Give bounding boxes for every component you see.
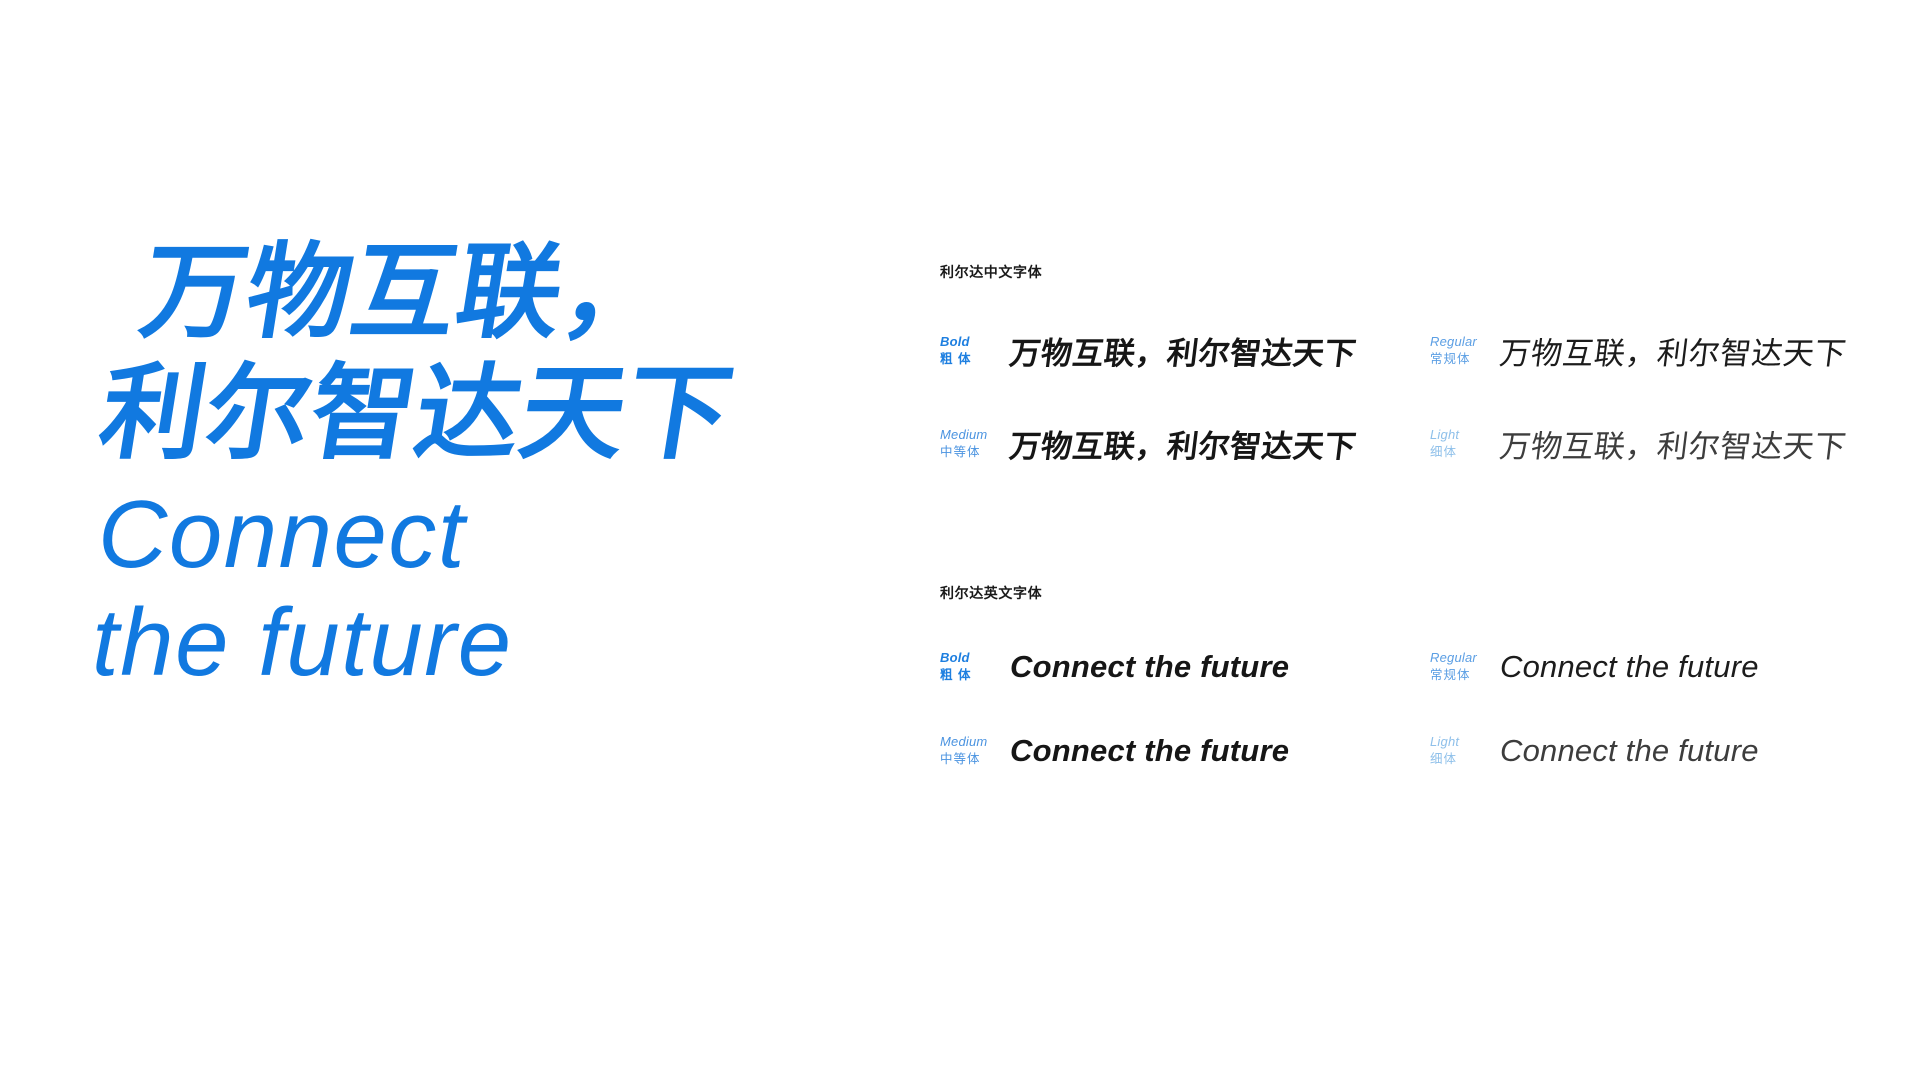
weight-label-regular: Regular 常规体 [1430, 650, 1486, 683]
weight-label-cn: 中等体 [940, 444, 996, 460]
weight-label-en: Bold [940, 650, 996, 667]
specimen-row-english-light: Light 细体 Connect the future [1430, 733, 1880, 769]
weight-label-bold: Bold 粗 体 [940, 334, 996, 367]
weight-label-medium: Medium 中等体 [940, 427, 996, 460]
weight-label-cn: 细体 [1430, 751, 1486, 767]
section-chinese-typeface: 利尔达中文字体 Bold 粗 体 万物互联，利尔智达天下 Regular 常规体… [940, 262, 1880, 466]
specimen-sample-text: 万物互联，利尔智达天下 [1007, 421, 1359, 466]
weight-label-cn: 中等体 [940, 751, 996, 767]
specimen-row-chinese-bold: Bold 粗 体 万物互联，利尔智达天下 [940, 328, 1430, 373]
weight-label-cn: 常规体 [1430, 351, 1486, 367]
specimen-sample-text: 万物互联，利尔智达天下 [1497, 421, 1849, 466]
weight-grid-chinese: Bold 粗 体 万物互联，利尔智达天下 Regular 常规体 万物互联，利尔… [940, 328, 1880, 466]
specimen-sample-text: Connect the future [1010, 733, 1289, 769]
hero-lockup: 万物互联， 利尔智达天下 Connect the future [92, 232, 852, 696]
weight-label-bold: Bold 粗 体 [940, 650, 996, 683]
weight-label-light: Light 细体 [1430, 427, 1486, 460]
weight-label-cn: 常规体 [1430, 667, 1486, 683]
hero-chinese-line-1: 万物互联， [111, 232, 890, 353]
weight-label-en: Regular [1430, 334, 1486, 351]
specimen-row-english-regular: Regular 常规体 Connect the future [1430, 649, 1880, 685]
weight-label-en: Medium [940, 427, 996, 444]
hero-english-line-1: Connect [92, 481, 852, 589]
weight-label-cn: 细体 [1430, 444, 1486, 460]
specimen-row-english-bold: Bold 粗 体 Connect the future [940, 649, 1430, 685]
specimen-row-chinese-medium: Medium 中等体 万物互联，利尔智达天下 [940, 421, 1430, 466]
weight-label-medium: Medium 中等体 [940, 734, 996, 767]
specimen-panel: 利尔达中文字体 Bold 粗 体 万物互联，利尔智达天下 Regular 常规体… [940, 262, 1880, 769]
weight-label-cn: 粗 体 [940, 351, 996, 367]
specimen-sample-text: Connect the future [1500, 649, 1759, 685]
specimen-row-chinese-light: Light 细体 万物互联，利尔智达天下 [1430, 421, 1880, 466]
section-title-chinese: 利尔达中文字体 [940, 262, 1880, 282]
section-title-english: 利尔达英文字体 [940, 583, 1880, 603]
specimen-sample-text: 万物互联，利尔智达天下 [1007, 328, 1359, 373]
specimen-sample-text: Connect the future [1500, 733, 1759, 769]
specimen-row-english-medium: Medium 中等体 Connect the future [940, 733, 1430, 769]
hero-chinese-line-2: 利尔智达天下 [92, 353, 871, 474]
weight-label-en: Regular [1430, 650, 1486, 667]
specimen-sample-text: 万物互联，利尔智达天下 [1497, 328, 1849, 373]
hero-english-line-2: the future [92, 589, 852, 697]
section-english-typeface: 利尔达英文字体 Bold 粗 体 Connect the future Regu… [940, 583, 1880, 769]
weight-label-en: Bold [940, 334, 996, 351]
specimen-sample-text: Connect the future [1010, 649, 1289, 685]
weight-label-cn: 粗 体 [940, 667, 996, 683]
weight-label-en: Light [1430, 427, 1486, 444]
weight-label-en: Light [1430, 734, 1486, 751]
hero-english-headline: Connect the future [92, 481, 852, 696]
weight-grid-english: Bold 粗 体 Connect the future Regular 常规体 … [940, 649, 1880, 769]
typography-specimen-sheet: 万物互联， 利尔智达天下 Connect the future 利尔达中文字体 … [0, 0, 1920, 1080]
weight-label-en: Medium [940, 734, 996, 751]
weight-label-light: Light 细体 [1430, 734, 1486, 767]
hero-chinese-headline: 万物互联， 利尔智达天下 [92, 232, 890, 473]
weight-label-regular: Regular 常规体 [1430, 334, 1486, 367]
specimen-row-chinese-regular: Regular 常规体 万物互联，利尔智达天下 [1430, 328, 1880, 373]
